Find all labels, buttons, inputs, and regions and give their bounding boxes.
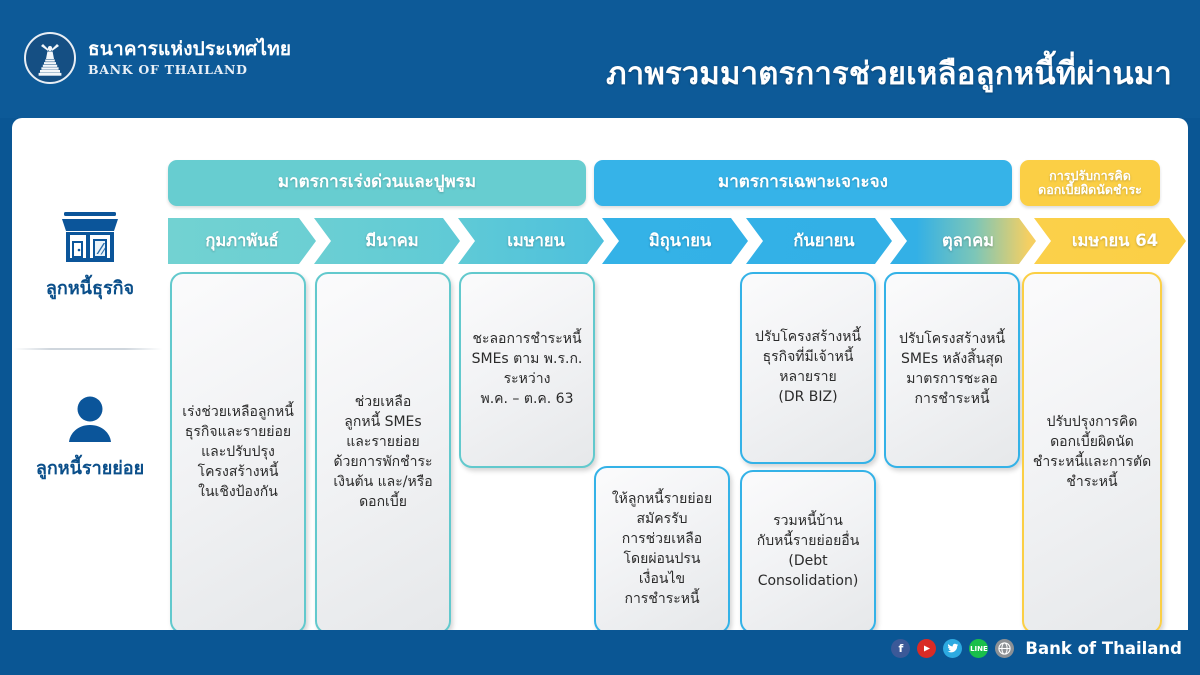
card-text: รวมหนี้บ้าน กับหนี้รายย่อยอื่น (Debt Con… — [757, 512, 860, 592]
month-chevron-0: กุมภาพันธ์ — [168, 218, 316, 264]
bot-seal-figure-icon — [37, 40, 63, 78]
footer-brand-name: Bank of Thailand — [1025, 639, 1182, 658]
category-bar-penalty-interest: การปรับการคิด ดอกเบี้ยผิดนัดชำระ — [1020, 160, 1160, 206]
category-label-0: มาตรการเร่งด่วนและปูพรม — [278, 173, 476, 192]
month-chevron-4: กันยายน — [746, 218, 892, 264]
org-name-en: BANK OF THAILAND — [88, 63, 291, 77]
org-name-th: ธนาคารแห่งประเทศไทย — [88, 39, 291, 60]
category-label-2: การปรับการคิด ดอกเบี้ยผิดนัดชำระ — [1038, 169, 1142, 197]
row-divider — [14, 348, 162, 350]
month-chevron-5: ตุลาคม — [890, 218, 1036, 264]
bot-logo-group: ธนาคารแห่งประเทศไทย BANK OF THAILAND — [24, 32, 291, 84]
month-label-0: กุมภาพันธ์ — [205, 228, 278, 254]
category-bar-urgent: มาตรการเร่งด่วนและปูพรม — [168, 160, 586, 206]
actor-retail-debtor: ลูกหนี้รายย่อย — [14, 386, 166, 482]
actor-retail-label: ลูกหนี้รายย่อย — [14, 453, 166, 482]
actor-business-debtor: ลูกหนี้ธุรกิจ — [14, 206, 166, 302]
card-text: ปรับโครงสร้างหนี้ ธุรกิจที่มีเจ้าหนี้ หล… — [755, 328, 861, 408]
card-sep-retail[interactable]: รวมหนี้บ้าน กับหนี้รายย่อยอื่น (Debt Con… — [740, 470, 876, 634]
card-text: เร่งช่วยเหลือลูกหนี้ ธุรกิจและรายย่อย แล… — [182, 403, 294, 502]
timeline-months: กุมภาพันธ์ มีนาคม เมษายน มิถุนายน กันยาย… — [168, 218, 1168, 264]
page-footer: f LINE Bank of Thailand — [0, 630, 1200, 675]
month-chevron-3: มิถุนายน — [602, 218, 748, 264]
youtube-icon[interactable] — [917, 639, 936, 658]
actor-business-label: ลูกหนี้ธุรกิจ — [14, 273, 166, 302]
card-jun-retail[interactable]: ให้ลูกหนี้รายย่อย สมัครรับ การช่วยเหลือ … — [594, 466, 730, 634]
month-label-5: ตุลาคม — [942, 228, 994, 254]
card-apr-business[interactable]: ชะลอการชำระหนี้ SMEs ตาม พ.ร.ก. ระหว่าง … — [459, 272, 595, 468]
person-icon — [14, 386, 166, 446]
facebook-icon[interactable]: f — [891, 639, 910, 658]
month-chevron-2: เมษายน — [458, 218, 604, 264]
month-label-2: เมษายน — [507, 228, 565, 254]
bot-seal-icon — [24, 32, 76, 84]
month-chevron-1: มีนาคม — [314, 218, 460, 264]
page-title: ภาพรวมมาตรการช่วยเหลือลูกหนี้ที่ผ่านมา — [606, 48, 1172, 98]
card-feb-business[interactable]: เร่งช่วยเหลือลูกหนี้ ธุรกิจและรายย่อย แล… — [170, 272, 306, 634]
page-header: ธนาคารแห่งประเทศไทย BANK OF THAILAND ภาพ… — [0, 0, 1200, 118]
storefront-icon — [14, 206, 166, 266]
website-globe-icon[interactable] — [995, 639, 1014, 658]
card-sep-business[interactable]: ปรับโครงสร้างหนี้ ธุรกิจที่มีเจ้าหนี้ หล… — [740, 272, 876, 464]
month-chevron-6: เมษายน 64 — [1034, 218, 1186, 264]
card-mar-business[interactable]: ช่วยเหลือ ลูกหนี้ SMEs และรายย่อย ด้วยกา… — [315, 272, 451, 634]
card-text: ปรับปรุงการคิด ดอกเบี้ยผิดนัด ชำระหนี้แล… — [1033, 413, 1151, 493]
card-apr64-all[interactable]: ปรับปรุงการคิด ดอกเบี้ยผิดนัด ชำระหนี้แล… — [1022, 272, 1162, 634]
month-label-3: มิถุนายน — [649, 228, 711, 254]
infographic-root: ธนาคารแห่งประเทศไทย BANK OF THAILAND ภาพ… — [0, 0, 1200, 675]
month-label-1: มีนาคม — [365, 228, 418, 254]
card-text: ให้ลูกหนี้รายย่อย สมัครรับ การช่วยเหลือ … — [603, 490, 721, 609]
category-label-1: มาตรการเฉพาะเจาะจง — [718, 173, 888, 192]
month-label-6: เมษายน 64 — [1072, 228, 1158, 254]
card-oct-business[interactable]: ปรับโครงสร้างหนี้ SMEs หลังสิ้นสุด มาตรก… — [884, 272, 1020, 468]
footer-brand-group: f LINE Bank of Thailand — [891, 639, 1182, 658]
card-text: ช่วยเหลือ ลูกหนี้ SMEs และรายย่อย ด้วยกา… — [333, 393, 432, 512]
category-bar-targeted: มาตรการเฉพาะเจาะจง — [594, 160, 1012, 206]
card-text: ชะลอการชำระหนี้ SMEs ตาม พ.ร.ก. ระหว่าง … — [472, 330, 583, 410]
card-text: ปรับโครงสร้างหนี้ SMEs หลังสิ้นสุด มาตรก… — [899, 330, 1005, 410]
twitter-icon[interactable] — [943, 639, 962, 658]
month-label-4: กันยายน — [793, 228, 854, 254]
line-icon[interactable]: LINE — [969, 639, 988, 658]
